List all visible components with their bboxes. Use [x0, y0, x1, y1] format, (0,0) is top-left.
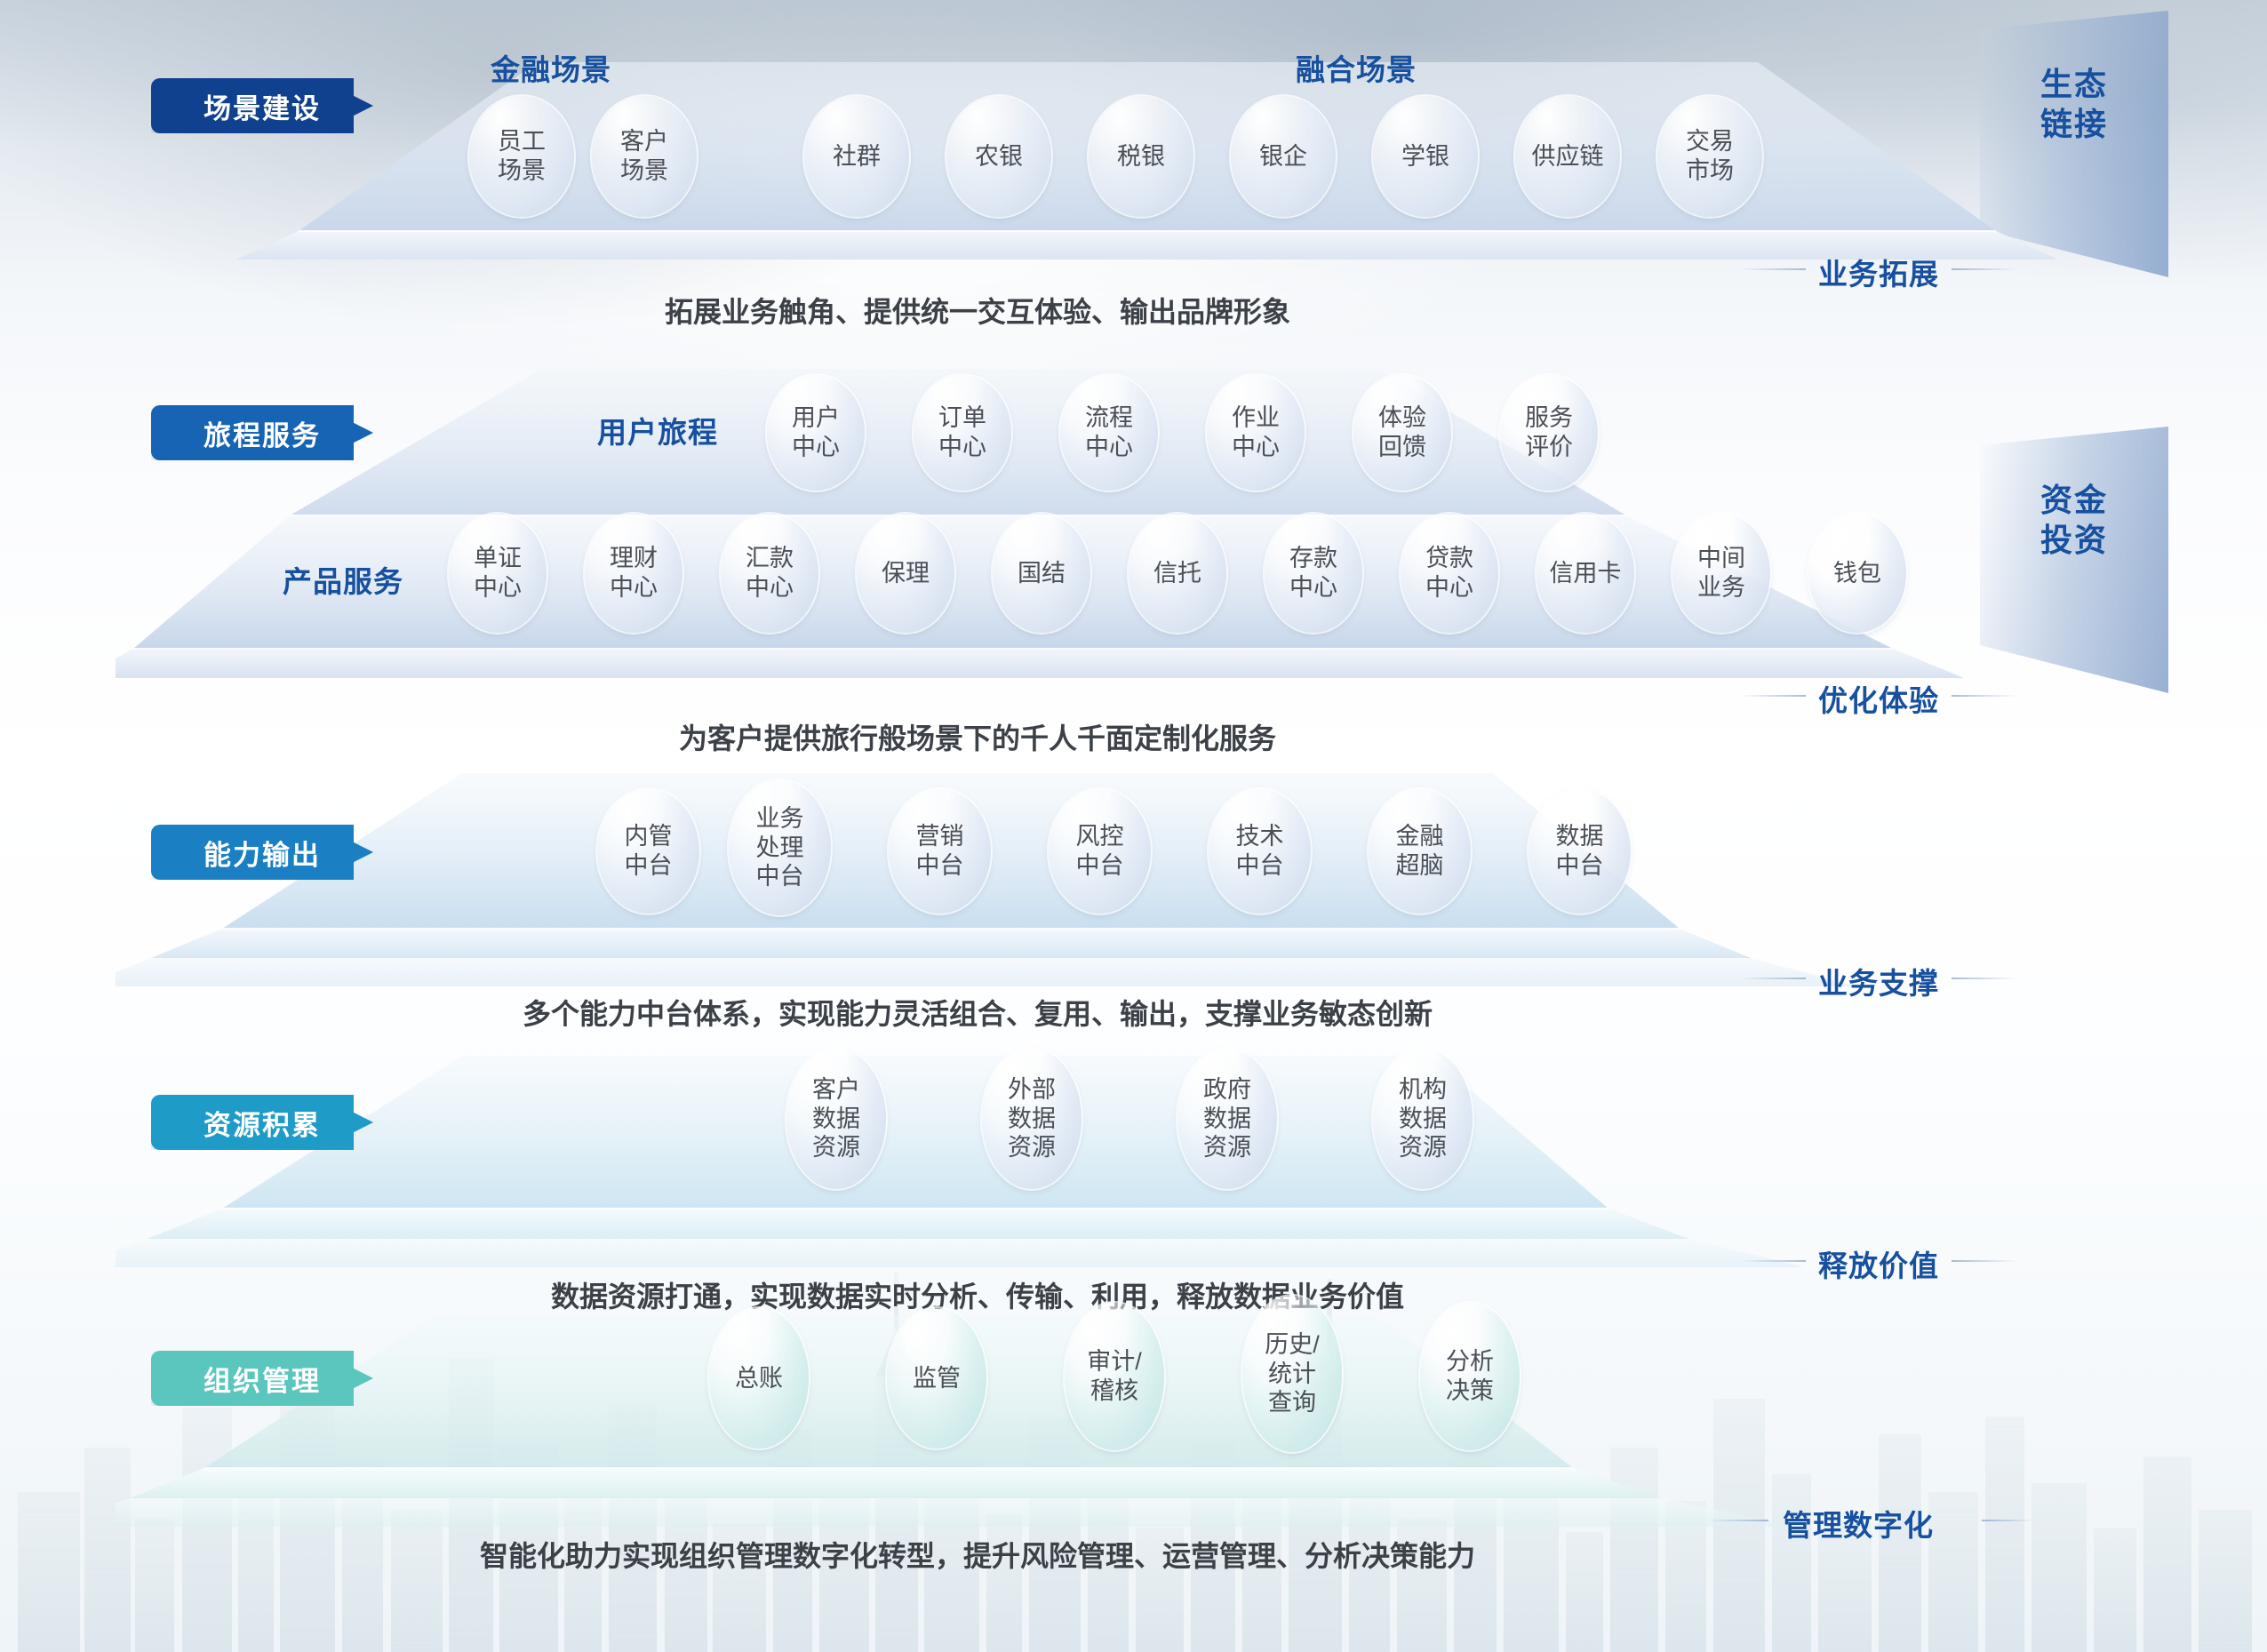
node-label: 银企	[1259, 142, 1307, 172]
node-label: 内管 中台	[625, 822, 673, 881]
node-journey-user-center[interactable]: 用户 中心	[767, 375, 865, 491]
node-product-intl-settlement[interactable]: 国结	[993, 514, 1090, 633]
node-label: 监管	[913, 1364, 961, 1393]
node-resource-government-data[interactable]: 政府 数据 资源	[1177, 1049, 1277, 1189]
node-org-history-statistics-query[interactable]: 历史/ 统计 查询	[1242, 1296, 1342, 1452]
node-label: 信托	[1153, 559, 1201, 588]
stage-label-optimize-experience: 优化体验	[1818, 677, 1939, 720]
node-scene-employee[interactable]: 员工 场景	[469, 96, 574, 217]
node-label: 订单 中心	[938, 403, 986, 462]
node-product-document-center[interactable]: 单证 中心	[449, 514, 547, 633]
node-label: 风控 中台	[1076, 822, 1124, 881]
node-product-wallet[interactable]: 钱包	[1808, 514, 1906, 633]
stage-rule-left-2	[1740, 695, 1806, 697]
node-product-trust[interactable]: 信托	[1129, 514, 1226, 633]
caption-scene: 拓展业务触角、提供统一交互体验、输出品牌形象	[0, 290, 1955, 331]
stage-rule-left-3	[1740, 978, 1806, 979]
node-label: 分析 决策	[1446, 1347, 1494, 1406]
node-product-loan-center[interactable]: 贷款 中心	[1401, 514, 1498, 633]
node-label: 中间 业务	[1697, 544, 1745, 603]
node-label: 政府 数据 资源	[1203, 1075, 1251, 1163]
platform-shape	[116, 1047, 2058, 1269]
layer-pill-resource[interactable]: 资源积累	[151, 1095, 373, 1150]
node-label: 客户 场景	[620, 127, 668, 186]
node-label: 审计/ 稽核	[1087, 1347, 1142, 1406]
node-label: 贷款 中心	[1425, 544, 1473, 603]
layer-pill-scene[interactable]: 场景建设	[151, 78, 373, 133]
node-label: 数据 中台	[1556, 822, 1604, 881]
node-label: 客户 数据 资源	[812, 1075, 860, 1163]
stage-rule-left-1	[1740, 268, 1806, 270]
node-journey-operation-center[interactable]: 作业 中心	[1207, 375, 1305, 491]
node-label: 保理	[882, 559, 930, 588]
node-label: 农银	[975, 142, 1023, 172]
node-label: 员工 场景	[498, 127, 546, 186]
layer-pill-journey[interactable]: 旅程服务	[151, 405, 373, 460]
node-label: 国结	[1018, 559, 1066, 588]
node-label: 社群	[833, 142, 881, 172]
node-capability-internal-mgmt[interactable]: 内管 中台	[597, 789, 699, 914]
stage-rule-right-1	[1952, 268, 2017, 270]
node-scene-trading-market[interactable]: 交易 市场	[1657, 96, 1762, 217]
node-product-wealth-center[interactable]: 理财 中心	[585, 514, 682, 633]
group-title-product-service: 产品服务	[283, 558, 403, 601]
node-capability-data[interactable]: 数据 中台	[1529, 789, 1631, 914]
diagram-canvas: 生态 链接 资金 投资 场景建设 金融场景 融合场景 员工 场景	[0, 0, 2267, 1652]
node-scene-supply-chain[interactable]: 供应链	[1515, 96, 1620, 217]
node-label: 体验 回馈	[1378, 403, 1426, 462]
stage-rule-right-5	[1982, 1520, 2035, 1521]
node-scene-school-bank[interactable]: 学银	[1373, 96, 1478, 217]
stage-rule-right-3	[1952, 978, 2017, 979]
node-journey-service-rating[interactable]: 服务 评价	[1500, 375, 1598, 491]
node-scene-bank-enterprise[interactable]: 银企	[1231, 96, 1336, 217]
node-resource-external-data[interactable]: 外部 数据 资源	[982, 1049, 1082, 1189]
layer-pill-capability[interactable]: 能力输出	[151, 825, 373, 880]
node-journey-experience-feedback[interactable]: 体验 回馈	[1353, 375, 1451, 491]
node-label: 理财 中心	[610, 544, 658, 603]
node-scene-community[interactable]: 社群	[804, 96, 909, 217]
node-product-deposit-center[interactable]: 存款 中心	[1265, 514, 1362, 633]
stage-rule-left-4	[1740, 1260, 1806, 1262]
stage-rule-right-4	[1952, 1260, 2017, 1262]
node-org-analysis-decision[interactable]: 分析 决策	[1420, 1303, 1520, 1450]
node-product-factoring[interactable]: 保理	[857, 514, 954, 633]
node-label: 存款 中心	[1289, 544, 1337, 603]
node-label: 钱包	[1833, 559, 1881, 588]
node-label: 单证 中心	[474, 544, 522, 603]
node-capability-technology[interactable]: 技术 中台	[1209, 789, 1311, 914]
node-label: 历史/ 统计 查询	[1265, 1330, 1320, 1418]
node-label: 用户 中心	[792, 403, 840, 462]
stage-label-business-expansion: 业务拓展	[1818, 251, 1939, 293]
caption-capability: 多个能力中台体系，实现能力灵活组合、复用、输出，支撑业务敏态创新	[0, 992, 1955, 1033]
node-capability-risk-control[interactable]: 风控 中台	[1049, 789, 1151, 914]
node-label: 信用卡	[1550, 559, 1622, 588]
node-resource-institution-data[interactable]: 机构 数据 资源	[1373, 1049, 1473, 1189]
node-product-credit-card[interactable]: 信用卡	[1537, 514, 1634, 633]
stage-rule-left-5	[1706, 1520, 1768, 1521]
node-label: 交易 市场	[1686, 127, 1734, 186]
node-label: 外部 数据 资源	[1008, 1075, 1056, 1163]
node-org-supervision[interactable]: 监管	[887, 1308, 986, 1448]
node-label: 服务 评价	[1525, 403, 1573, 462]
node-label: 金融 超脑	[1396, 822, 1444, 881]
node-journey-process-center[interactable]: 流程 中心	[1060, 375, 1158, 491]
node-product-remittance-center[interactable]: 汇款 中心	[721, 514, 818, 633]
node-label: 总账	[735, 1364, 783, 1393]
node-scene-tax-bank[interactable]: 税银	[1089, 96, 1193, 217]
stage-rule-right-2	[1952, 695, 2017, 697]
node-label: 税银	[1117, 142, 1165, 172]
node-label: 业务 处理 中台	[756, 804, 804, 892]
group-title-financial-scene: 金融场景	[491, 46, 611, 89]
node-label: 学银	[1401, 142, 1449, 172]
node-label: 流程 中心	[1085, 403, 1133, 462]
group-title-user-journey: 用户旅程	[597, 409, 718, 451]
node-label: 技术 中台	[1236, 822, 1284, 881]
layer-pill-organization[interactable]: 组织管理	[151, 1351, 373, 1406]
caption-product: 为客户提供旅行般场景下的千人千面定制化服务	[0, 716, 1955, 757]
node-capability-business-processing[interactable]: 业务 处理 中台	[729, 780, 831, 915]
group-title-fusion-scene: 融合场景	[1296, 46, 1417, 89]
caption-organization: 智能化助力实现组织管理数字化转型，提升风险管理、运营管理、分析决策能力	[0, 1534, 1955, 1575]
node-scene-agri-bank[interactable]: 农银	[946, 96, 1051, 217]
node-capability-financial-brain[interactable]: 金融 超脑	[1369, 789, 1471, 914]
node-resource-customer-data[interactable]: 客户 数据 资源	[786, 1049, 886, 1189]
node-org-audit-inspection[interactable]: 审计/ 稽核	[1065, 1303, 1164, 1450]
platform-resource	[116, 1047, 2058, 1269]
node-label: 汇款 中心	[746, 544, 794, 603]
node-label: 供应链	[1532, 142, 1604, 172]
node-label: 作业 中心	[1232, 403, 1280, 462]
node-journey-order-center[interactable]: 订单 中心	[914, 375, 1011, 491]
node-product-intermediary-business[interactable]: 中间 业务	[1672, 514, 1770, 633]
node-scene-customer[interactable]: 客户 场景	[592, 96, 697, 217]
node-label: 营销 中台	[916, 822, 964, 881]
node-org-general-ledger[interactable]: 总账	[709, 1308, 809, 1448]
node-label: 机构 数据 资源	[1399, 1075, 1447, 1163]
node-capability-marketing[interactable]: 营销 中台	[889, 789, 991, 914]
